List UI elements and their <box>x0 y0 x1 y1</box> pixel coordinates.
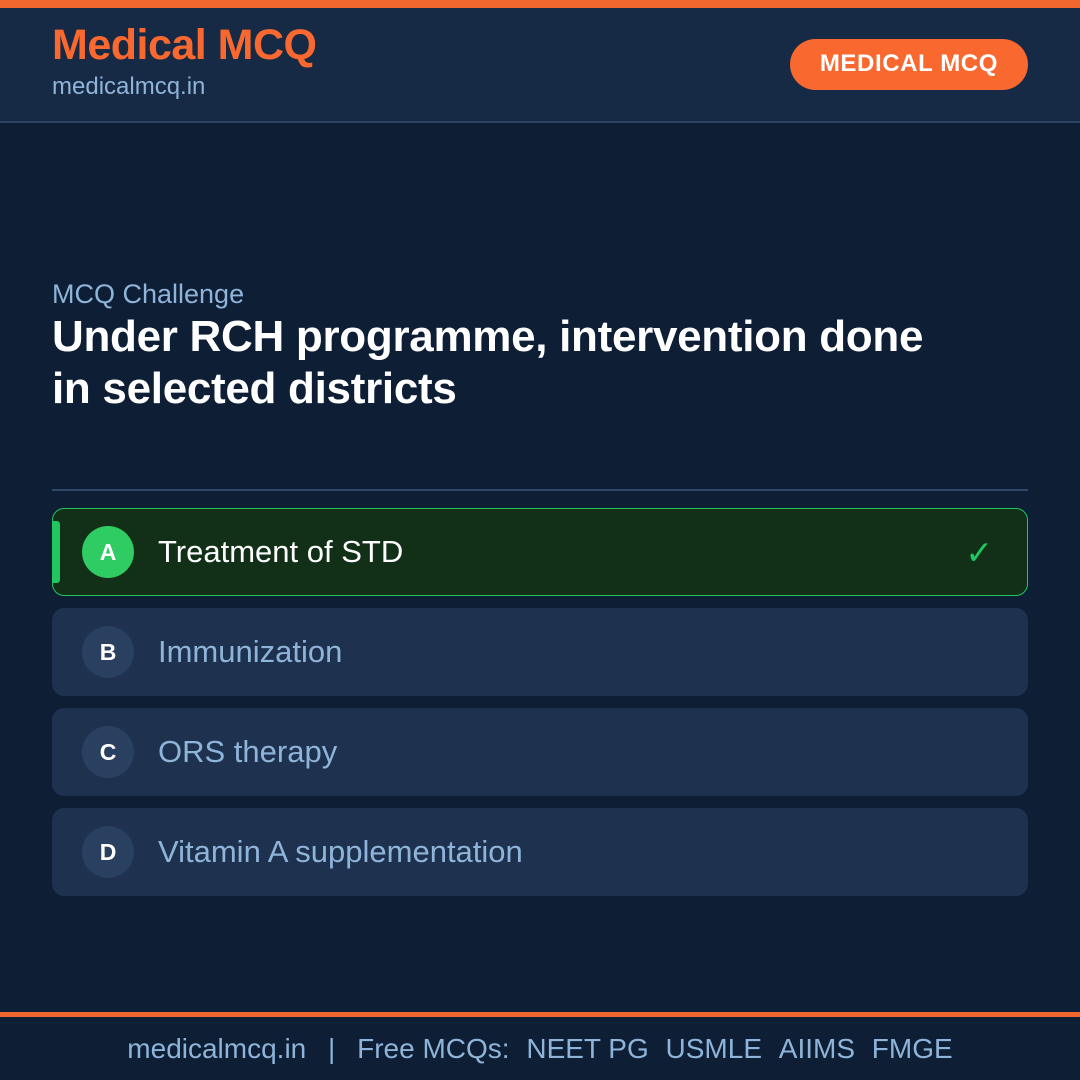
option-b-label: Immunization <box>158 635 994 669</box>
option-a[interactable]: A Treatment of STD ✓ <box>52 508 1028 596</box>
section-divider <box>52 489 1028 491</box>
footer-exam-usmle: USMLE <box>657 1033 762 1064</box>
correct-accent-bar <box>53 521 60 583</box>
brand-block: Medical MCQ medicalmcq.in <box>52 24 317 106</box>
footer-exam-aiims: AIIMS <box>770 1033 855 1064</box>
page-footer: medicalmcq.in | Free MCQs: NEET PG USMLE… <box>0 1012 1080 1080</box>
check-icon: ✓ <box>965 536 993 569</box>
option-c-letter: C <box>82 726 134 778</box>
option-d-label: Vitamin A supplementation <box>158 835 994 869</box>
brand-title: Medical MCQ <box>52 24 317 68</box>
option-c-label: ORS therapy <box>158 735 994 769</box>
main-content: MCQ Challenge Under RCH programme, inter… <box>0 123 1080 1012</box>
option-b-letter: B <box>82 626 134 678</box>
option-a-letter: A <box>82 526 134 578</box>
header-badge: MEDICAL MCQ <box>790 39 1028 90</box>
footer-exam-neet-pg: NEET PG <box>517 1033 648 1064</box>
brand-website: medicalmcq.in <box>52 69 317 105</box>
mcq-card: Medical MCQ medicalmcq.in MEDICAL MCQ MC… <box>0 0 1080 1080</box>
question-text: Under RCH programme, intervention done i… <box>52 311 932 416</box>
eyebrow-label: MCQ Challenge <box>52 281 244 308</box>
page-header: Medical MCQ medicalmcq.in MEDICAL MCQ <box>0 8 1080 123</box>
options-list: A Treatment of STD ✓ B Immunization C OR… <box>52 508 1028 896</box>
option-d-letter: D <box>82 826 134 878</box>
footer-text: medicalmcq.in | Free MCQs: NEET PG USMLE… <box>127 1035 952 1063</box>
option-a-label: Treatment of STD <box>158 535 965 569</box>
footer-separator: | <box>314 1033 349 1064</box>
option-d[interactable]: D Vitamin A supplementation <box>52 808 1028 896</box>
footer-site: medicalmcq.in <box>127 1033 306 1064</box>
footer-exam-fmge: FMGE <box>863 1033 953 1064</box>
option-c[interactable]: C ORS therapy <box>52 708 1028 796</box>
footer-prefix: Free MCQs: <box>357 1033 509 1064</box>
option-b[interactable]: B Immunization <box>52 608 1028 696</box>
top-accent-rule <box>0 0 1080 8</box>
